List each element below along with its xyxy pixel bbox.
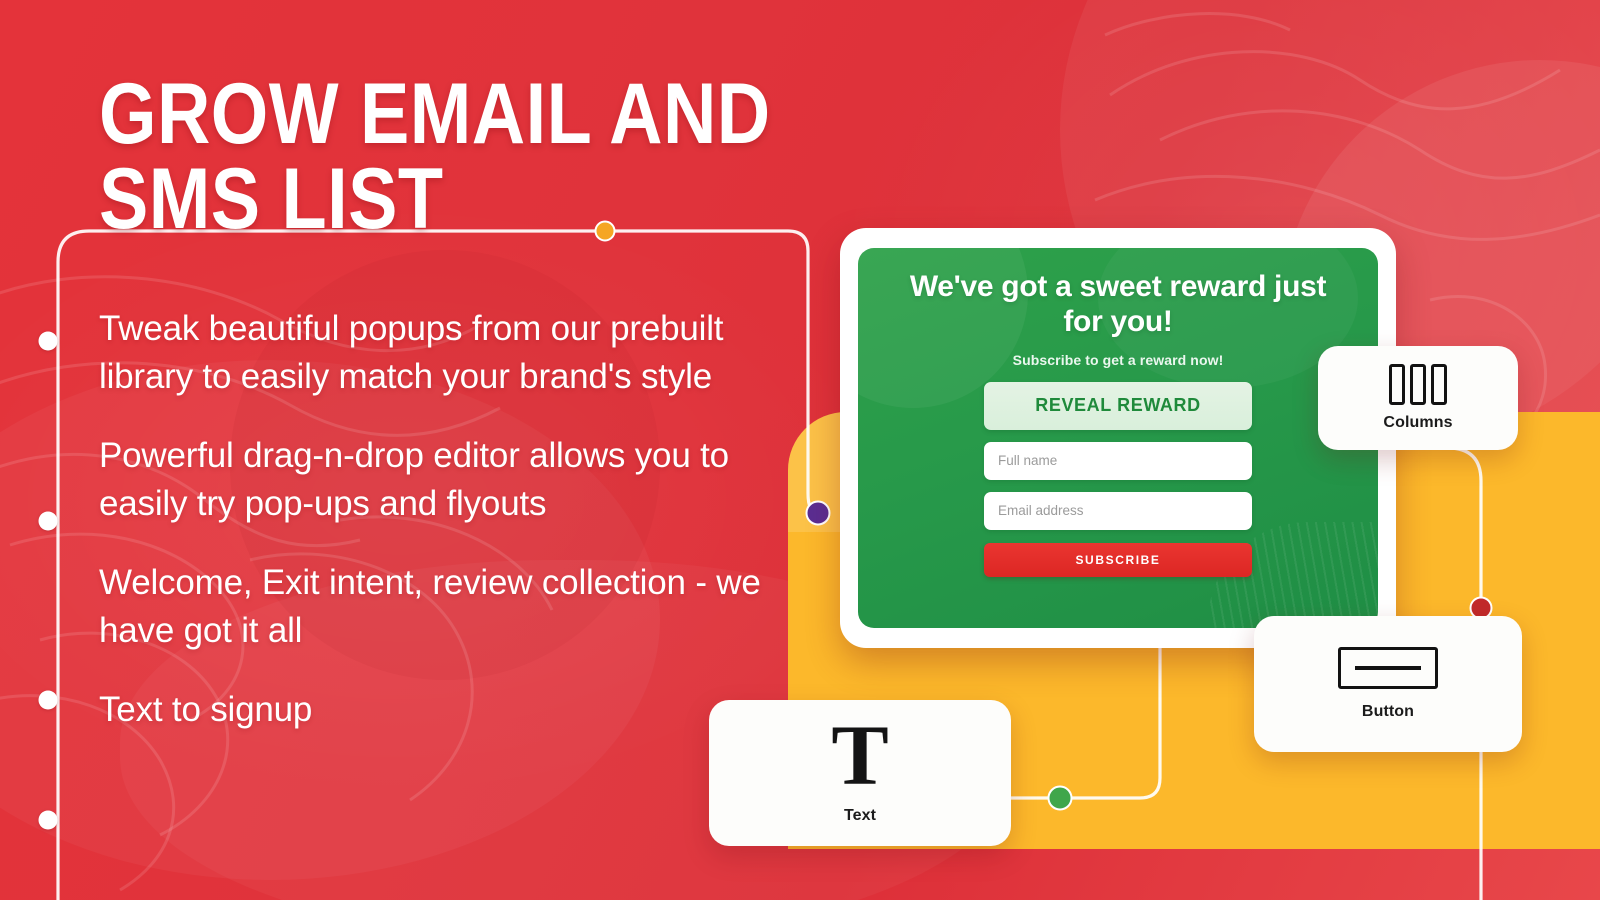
popup-title: We've got a sweet reward just for you!	[902, 270, 1334, 340]
feature-item: Powerful drag-n-drop editor allows you t…	[99, 432, 789, 528]
widget-card-button[interactable]: Button	[1254, 616, 1522, 752]
widget-card-text[interactable]: T Text	[709, 700, 1011, 846]
full-name-input[interactable]: Full name	[984, 442, 1252, 480]
feature-item: Tweak beautiful popups from our prebuilt…	[99, 305, 789, 401]
subscribe-button[interactable]: SUBSCRIBE	[984, 543, 1252, 577]
feature-item: Text to signup	[99, 686, 789, 734]
bullet-marker	[39, 691, 58, 710]
widget-label-columns: Columns	[1383, 414, 1452, 432]
feature-item: Welcome, Exit intent, review collection …	[99, 559, 789, 655]
widget-card-columns[interactable]: Columns	[1318, 346, 1518, 450]
page-title: Grow Email and SMS List	[99, 72, 692, 242]
purple-node-icon	[806, 501, 831, 526]
button-icon	[1338, 647, 1438, 689]
columns-icon	[1389, 364, 1447, 405]
feature-list: Tweak beautiful popups from our prebuilt…	[99, 305, 789, 734]
column-bar	[1431, 364, 1447, 405]
reveal-reward-button[interactable]: REVEAL REWARD	[984, 382, 1252, 430]
popup-subtitle: Subscribe to get a reward now!	[902, 352, 1334, 368]
widget-label-text: Text	[844, 807, 876, 825]
text-icon: T	[831, 721, 888, 790]
bullet-marker	[39, 811, 58, 830]
headline-line-2: SMS List	[99, 157, 692, 242]
column-bar	[1389, 364, 1405, 405]
device-frame: We've got a sweet reward just for you! S…	[840, 228, 1396, 648]
green-node-icon	[1048, 786, 1073, 811]
headline-line-1: Grow Email and	[99, 72, 692, 157]
promo-banner: Grow Email and SMS List Tweak beautiful …	[0, 0, 1600, 900]
widget-label-button: Button	[1362, 703, 1414, 721]
button-icon-line	[1355, 666, 1421, 671]
email-address-input[interactable]: Email address	[984, 492, 1252, 530]
popup-preview: We've got a sweet reward just for you! S…	[858, 248, 1378, 628]
bullet-marker	[39, 332, 58, 351]
column-bar	[1410, 364, 1426, 405]
bullet-marker	[39, 512, 58, 531]
